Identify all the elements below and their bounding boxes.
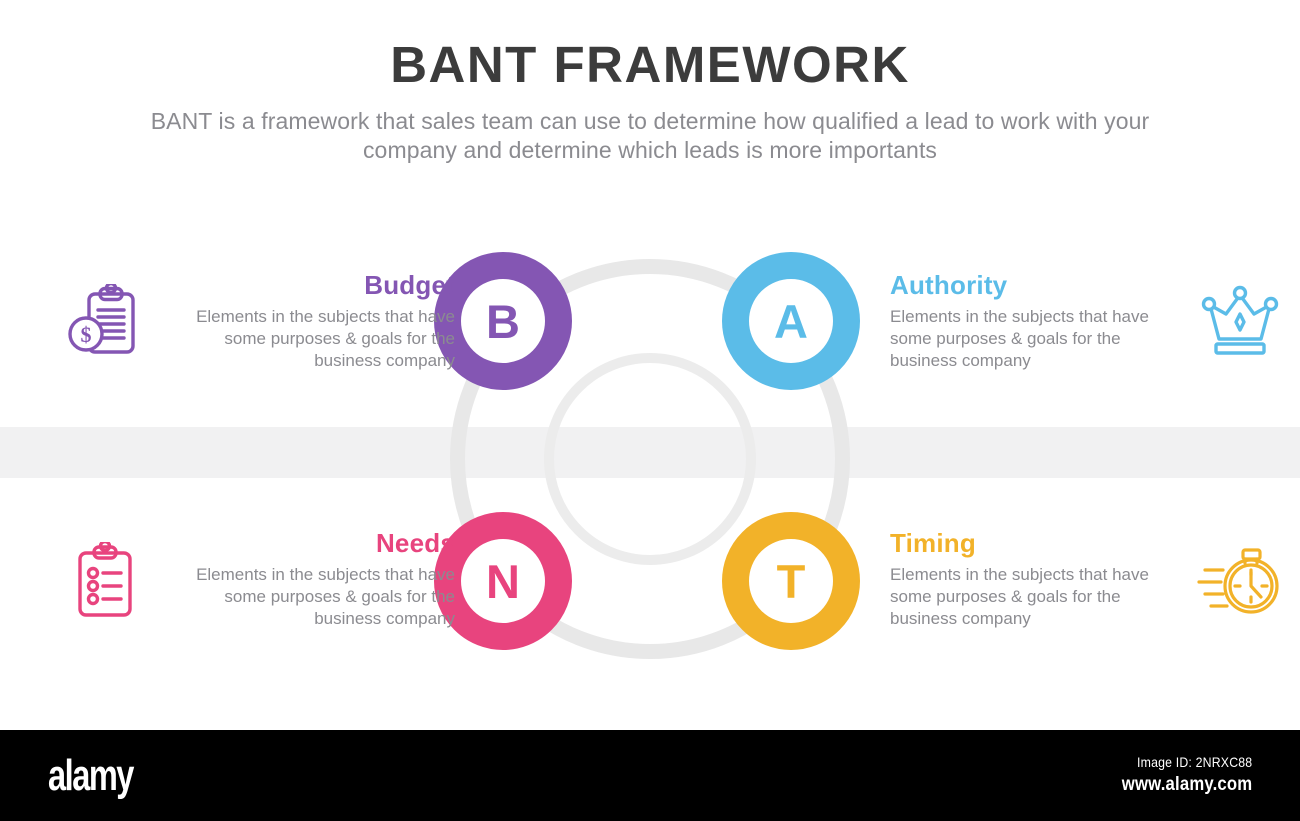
node-authority-letter: A (774, 298, 808, 345)
clipboard-checklist-icon (55, 528, 155, 620)
block-needs-text: Needs Elements in the subjects that have… (155, 528, 465, 630)
node-budget-letter: B (486, 298, 520, 345)
alamy-logo: alamy (48, 754, 133, 798)
node-authority[interactable]: A (722, 252, 860, 390)
svg-text:$: $ (81, 322, 92, 347)
block-authority-title: Authority (890, 270, 1190, 300)
block-timing-title: Timing (890, 528, 1190, 558)
block-authority: Authority Elements in the subjects that … (880, 270, 1290, 372)
stopwatch-icon (1190, 528, 1290, 622)
page-title: BANT FRAMEWORK (0, 34, 1300, 96)
block-needs: Needs Elements in the subjects that have… (55, 528, 465, 630)
node-timing-letter: T (777, 558, 806, 605)
bant-ring-diagram: B A N T (434, 243, 866, 675)
block-budget-description: Elements in the subjects that have some … (155, 306, 455, 372)
image-id-label: Image ID: 2NRXC88 (1121, 752, 1252, 772)
block-timing-text: Timing Elements in the subjects that hav… (880, 528, 1190, 630)
block-budget-title: Budget (155, 270, 455, 300)
node-timing[interactable]: T (722, 512, 860, 650)
alamy-url-link[interactable]: www.alamy.com (1121, 772, 1252, 798)
block-budget: $ Budget Elements in the subjects that h… (55, 270, 465, 372)
block-budget-text: Budget Elements in the subjects that hav… (155, 270, 465, 372)
block-authority-description: Elements in the subjects that have some … (890, 306, 1190, 372)
crown-icon (1190, 270, 1290, 356)
infographic-canvas: BANT FRAMEWORK BANT is a framework that … (0, 0, 1300, 730)
watermark-footer: alamy Image ID: 2NRXC88 www.alamy.com (0, 730, 1300, 821)
block-authority-text: Authority Elements in the subjects that … (880, 270, 1190, 372)
inner-ring (544, 353, 756, 565)
footer-meta: Image ID: 2NRXC88 www.alamy.com (1104, 752, 1252, 798)
block-timing-description: Elements in the subjects that have some … (890, 564, 1190, 630)
page-subtitle: BANT is a framework that sales team can … (105, 107, 1195, 165)
block-needs-description: Elements in the subjects that have some … (155, 564, 455, 630)
header: BANT FRAMEWORK BANT is a framework that … (0, 34, 1300, 165)
block-timing: Timing Elements in the subjects that hav… (880, 528, 1290, 630)
clipboard-dollar-icon: $ (55, 270, 155, 360)
block-needs-title: Needs (155, 528, 455, 558)
node-needs-letter: N (486, 558, 520, 605)
